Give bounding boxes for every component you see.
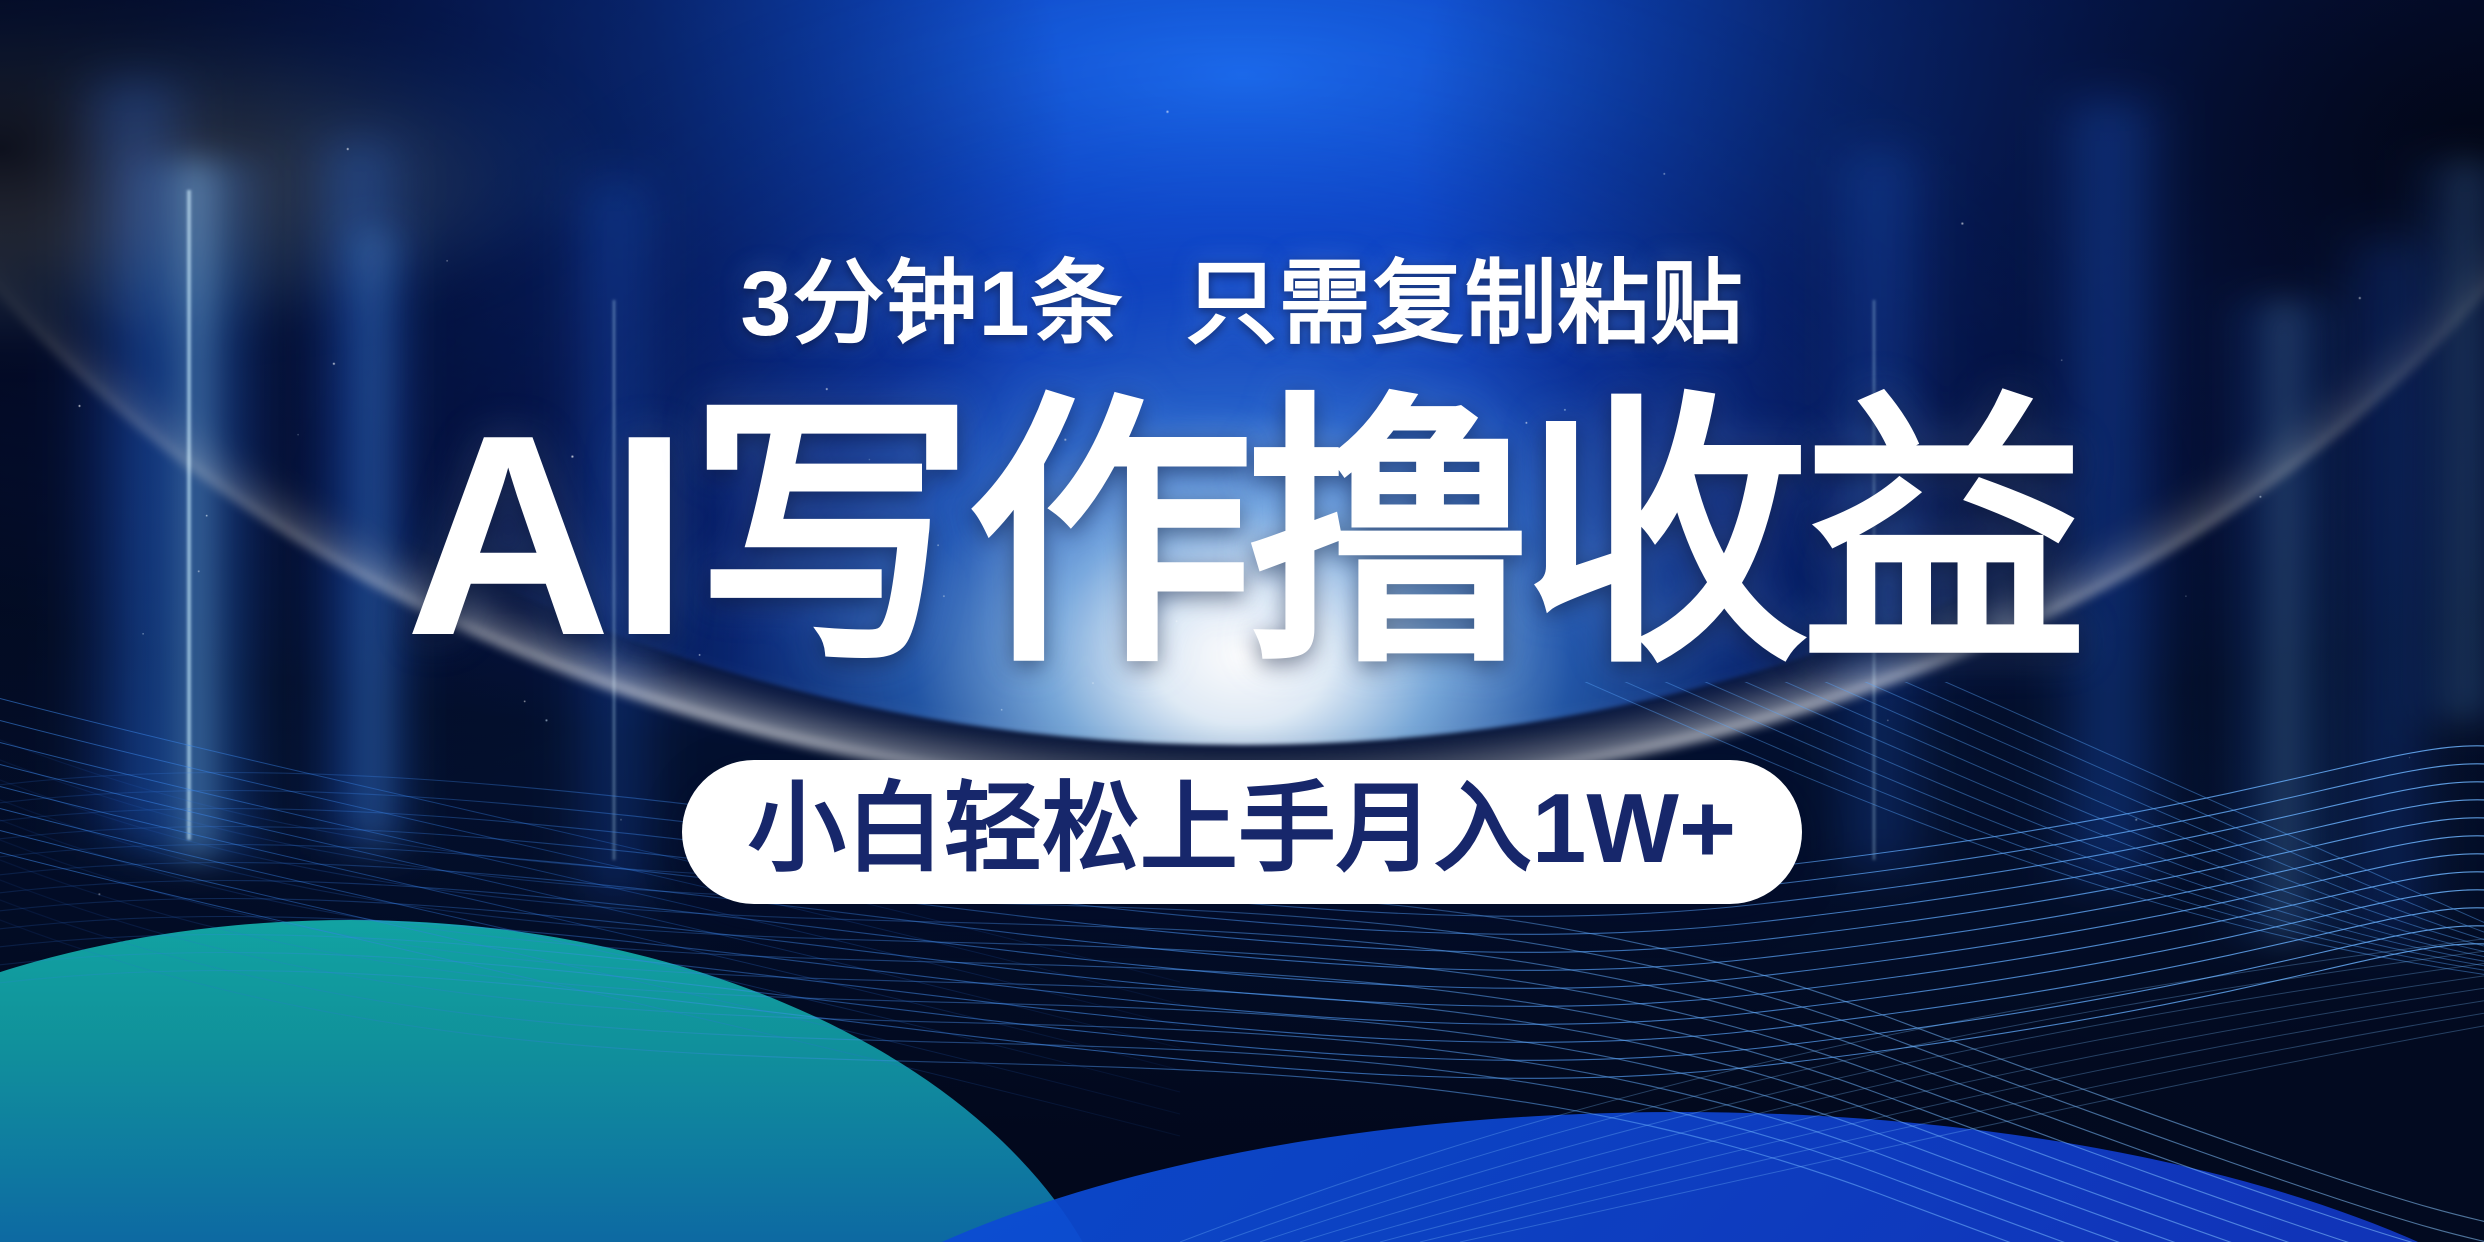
tagline-text: 小白轻松上手月入1W+ (748, 776, 1736, 882)
promotional-banner: 3分钟1条 只需复制粘贴 AI写作撸收益 小白轻松上手月入1W+ (0, 0, 2484, 1242)
main-headline: AI写作撸收益 (405, 392, 2079, 678)
tagline-pill: 小白轻松上手月入1W+ (682, 760, 1802, 904)
headline-latin-ai: AI (405, 375, 689, 695)
subheadline: 3分钟1条 只需复制粘贴 (740, 258, 1743, 350)
subheadline-part-1: 3分钟1条 (740, 258, 1123, 350)
headline-cjk: 写作撸收益 (689, 375, 2079, 695)
banner-content: 3分钟1条 只需复制粘贴 AI写作撸收益 小白轻松上手月入1W+ (0, 0, 2484, 1242)
subheadline-part-2: 只需复制粘贴 (1186, 258, 1744, 350)
